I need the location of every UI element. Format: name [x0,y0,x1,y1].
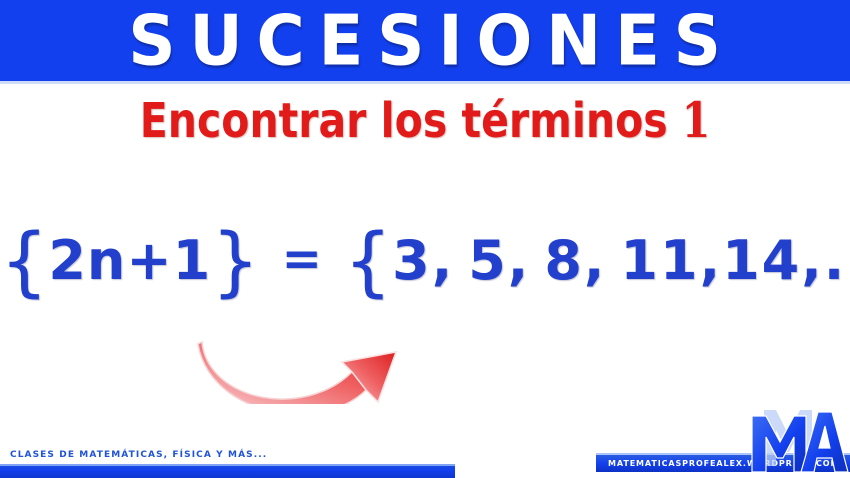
equation-term-3: 8, [544,229,606,292]
footer-bar-left-highlight [0,464,455,466]
equation-term-1: 3, [392,229,454,292]
equation-term-2: 5, [468,229,530,292]
footer-bar-left [0,464,455,478]
equals-sign: = [282,231,322,287]
equation-left-expression: 2n+1 [48,229,211,292]
ma-logo-icon [742,404,850,478]
title-banner: SUCESIONES [0,0,850,81]
subtitle: Encontrar los términos1 [0,92,850,149]
page-title: SUCESIONES [115,6,735,75]
equation: {2n+1}={3,5,8,11,14,...} [0,228,850,292]
equation-term-5: 14,... [722,229,850,292]
footer-tagline: CLASES DE MATEMÁTICAS, FÍSICA Y MÁS... [10,450,267,461]
subtitle-text: Encontrar los términos [140,92,668,149]
title-banner-underline [0,81,850,84]
slide-canvas: SUCESIONES Encontrar los términos1 {2n+1… [0,0,850,478]
subtitle-number: 1 [682,92,711,149]
equation-term-4: 11, [620,229,722,292]
curved-red-arrow-icon [196,318,408,404]
left-brace-close: } [211,216,259,305]
left-brace-open: { [0,216,48,305]
right-brace-open: { [344,216,392,305]
